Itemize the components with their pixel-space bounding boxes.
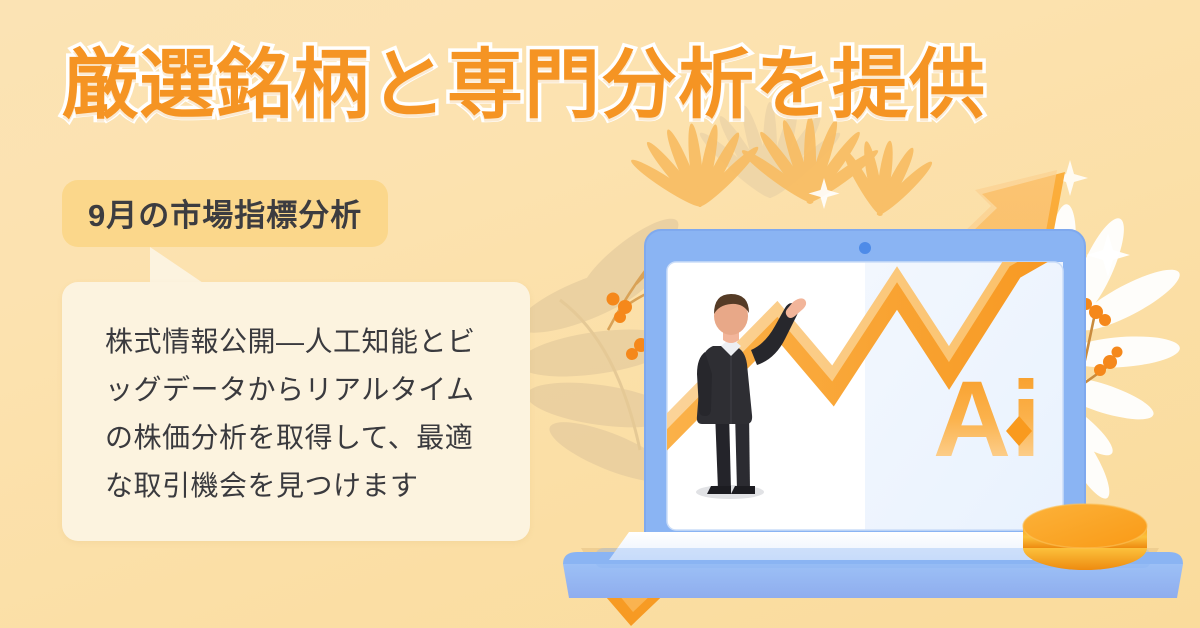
badge-label: 9月の市場指標分析 [88,198,362,233]
webcam-icon [859,242,871,254]
description-line: な取引機会を見つけます [105,462,525,510]
laptop-illustration: Ai [545,120,1200,628]
description-line: 株式情報公開―人工知能とビ [105,318,525,366]
shoe-left [707,486,731,494]
description-text: 株式情報公開―人工知能とビ ッグデータからリアルタイム の株価分析を取得して、最… [105,318,525,511]
ai-logo: Ai [933,358,1041,479]
ai-logo-text: Ai [933,358,1041,479]
description-line: の株価分析を取得して、最適 [105,414,525,462]
shoe-right [731,486,755,494]
status-badge: 9月の市場指標分析 [62,180,388,247]
banner-root: Ai [0,0,1200,628]
page-title: 厳選銘柄と専門分析を提供 [62,48,986,124]
gold-coin-icon [1023,504,1147,570]
description-line: ッグデータからリアルタイム [105,366,525,414]
